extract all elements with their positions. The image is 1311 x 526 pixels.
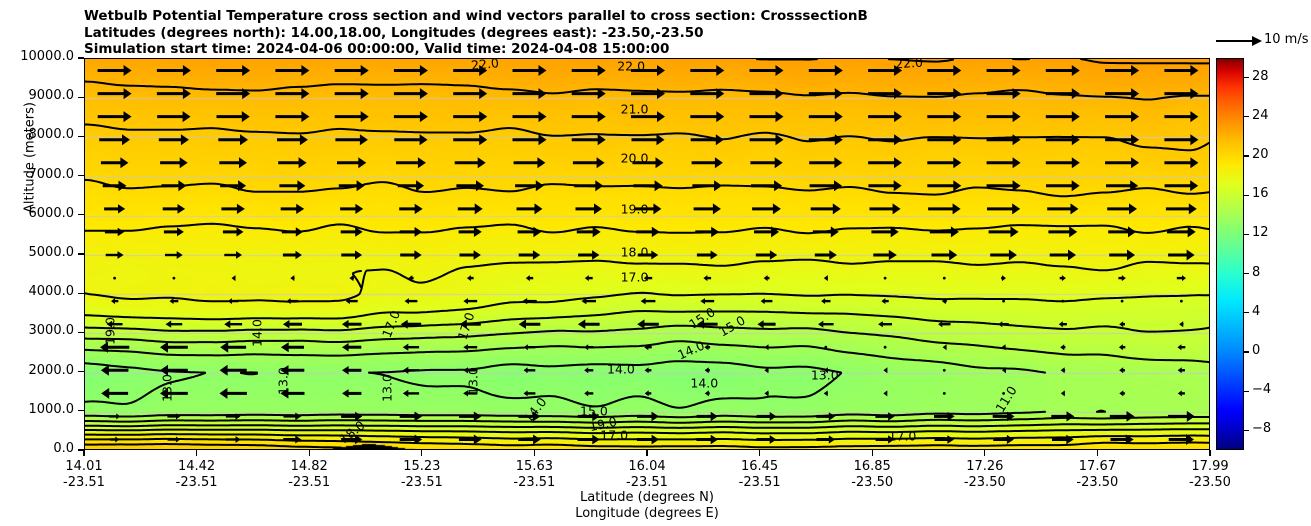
contour-label: 17.0 bbox=[889, 429, 917, 444]
x-tick-label-latitude: 14.42 bbox=[152, 459, 242, 474]
x-tick-label-longitude: -23.50 bbox=[940, 475, 1030, 490]
x-tick-label-longitude: -23.51 bbox=[152, 475, 242, 490]
colorbar-tick-label: 16 bbox=[1252, 186, 1269, 201]
contour-line bbox=[85, 423, 1209, 428]
x-tick-label-longitude: -23.51 bbox=[377, 475, 467, 490]
x-tick-label-latitude: 14.01 bbox=[39, 459, 129, 474]
colorbar-tick-mark bbox=[1244, 195, 1249, 196]
contour-label: 22.0 bbox=[617, 59, 645, 74]
x-tick-label-longitude: -23.51 bbox=[39, 475, 129, 490]
y-tick-label: 1000.0 bbox=[0, 402, 74, 417]
contour-label: 14.0 bbox=[250, 319, 265, 347]
colorbar-tick-mark bbox=[1244, 116, 1249, 117]
contour-line bbox=[353, 275, 361, 288]
contour-label: 21.0 bbox=[621, 102, 649, 117]
colorbar-tick-label: 0 bbox=[1252, 343, 1260, 358]
contour-line bbox=[1081, 59, 1209, 63]
title-line-1: Wetbulb Potential Temperature cross sect… bbox=[84, 8, 868, 25]
y-axis-title: Altitude (meters) bbox=[23, 58, 38, 258]
x-tick-mark bbox=[534, 450, 535, 456]
x-tick-label-latitude: 16.04 bbox=[602, 459, 692, 474]
contour-line bbox=[85, 224, 1209, 233]
contour-line bbox=[369, 361, 841, 372]
x-tick-mark bbox=[984, 450, 985, 456]
contour-label: 22.0 bbox=[470, 58, 499, 73]
y-tick-label: 3000.0 bbox=[0, 323, 74, 338]
colorbar-tick-mark bbox=[1244, 430, 1249, 431]
x-tick-mark bbox=[1209, 450, 1210, 456]
figure-title: Wetbulb Potential Temperature cross sect… bbox=[84, 8, 868, 58]
y-tick-mark bbox=[78, 214, 84, 215]
contour-label: 13.0 bbox=[276, 367, 291, 395]
y-tick-label: 4000.0 bbox=[0, 284, 74, 299]
contour-label: 13.0 bbox=[160, 374, 175, 402]
contour-label: 17.0 bbox=[621, 269, 649, 284]
colorbar-tick-label: 4 bbox=[1252, 304, 1260, 319]
colorbar-tick-mark bbox=[1244, 312, 1249, 313]
y-tick-mark bbox=[78, 175, 84, 176]
y-tick-mark bbox=[78, 293, 84, 294]
x-tick-mark bbox=[872, 450, 873, 456]
x-tick-label-longitude: -23.51 bbox=[489, 475, 579, 490]
contour-line bbox=[85, 444, 341, 448]
wind-vector-key: 10 m/s bbox=[1216, 32, 1311, 52]
contour-line bbox=[85, 429, 1209, 433]
title-line-3: Simulation start time: 2024-04-06 00:00:… bbox=[84, 41, 868, 58]
x-tick-label-longitude: -23.50 bbox=[1165, 475, 1255, 490]
colorbar-tick-mark bbox=[1244, 273, 1249, 274]
y-tick-label: 0.0 bbox=[0, 441, 74, 456]
x-tick-mark bbox=[1097, 450, 1098, 456]
y-tick-mark bbox=[78, 410, 84, 411]
contour-label: 17.0 bbox=[600, 428, 628, 443]
x-tick-label-latitude: 17.26 bbox=[940, 459, 1030, 474]
x-tick-label-longitude: -23.51 bbox=[715, 475, 805, 490]
contour-label: 20.0 bbox=[621, 150, 649, 165]
cross-section-plot: 22.022.022.021.020.019.018.017.019.014.0… bbox=[84, 58, 1210, 450]
colorbar-tick-label: 20 bbox=[1252, 147, 1269, 162]
colorbar-tick-label: 12 bbox=[1252, 225, 1269, 240]
x-tick-label-latitude: 16.85 bbox=[827, 459, 917, 474]
contour-line bbox=[85, 373, 205, 404]
contour-label: 13.0 bbox=[379, 374, 394, 402]
y-tick-mark bbox=[78, 97, 84, 98]
x-tick-label-latitude: 15.23 bbox=[377, 459, 467, 474]
contour-label: 13.0 bbox=[466, 367, 481, 395]
y-tick-label: 2000.0 bbox=[0, 363, 74, 378]
x-tick-mark bbox=[421, 450, 422, 456]
contour-label: 14.0 bbox=[690, 375, 718, 390]
contour-label: 22.0 bbox=[895, 58, 924, 71]
y-tick-mark bbox=[78, 57, 84, 58]
arrow-right-icon bbox=[1216, 34, 1262, 48]
contour-label: 13.0 bbox=[811, 367, 839, 382]
colorbar-tick-label: −4 bbox=[1252, 382, 1271, 397]
x-tick-label-latitude: 16.45 bbox=[715, 459, 805, 474]
contour-line bbox=[85, 180, 1209, 196]
x-tick-label-latitude: 14.82 bbox=[264, 459, 354, 474]
contour-line bbox=[85, 293, 1209, 319]
contour-line bbox=[85, 363, 205, 372]
colorbar-tick-label: 24 bbox=[1252, 108, 1269, 123]
x-axis-title-longitude: Longitude (degrees E) bbox=[84, 506, 1210, 521]
contour-line bbox=[369, 373, 841, 408]
contour-line bbox=[85, 341, 1045, 372]
wind-vector-key-label: 10 m/s bbox=[1264, 32, 1309, 47]
contour-line bbox=[757, 59, 817, 60]
x-tick-label-latitude: 17.99 bbox=[1165, 459, 1255, 474]
colorbar-tick-mark bbox=[1244, 155, 1249, 156]
x-tick-mark bbox=[196, 450, 197, 456]
x-tick-mark bbox=[646, 450, 647, 456]
contour-line bbox=[85, 125, 1209, 151]
x-axis-title-latitude: Latitude (degrees N) bbox=[84, 490, 1210, 505]
colorbar-tick-mark bbox=[1244, 234, 1249, 235]
x-tick-label-longitude: -23.50 bbox=[1052, 475, 1142, 490]
contour-line bbox=[85, 412, 1045, 417]
x-tick-label-latitude: 17.67 bbox=[1052, 459, 1142, 474]
x-tick-label-longitude: -23.51 bbox=[602, 475, 692, 490]
contour-label: 19.0 bbox=[621, 201, 649, 216]
contour-label: 14.0 bbox=[607, 361, 635, 376]
contour-line bbox=[353, 271, 361, 273]
x-tick-label-longitude: -23.51 bbox=[264, 475, 354, 490]
x-tick-label-longitude: -23.50 bbox=[827, 475, 917, 490]
title-line-2: Latitudes (degrees north): 14.00,18.00, … bbox=[84, 25, 868, 42]
colorbar-tick-label: 8 bbox=[1252, 265, 1260, 280]
x-tick-mark bbox=[309, 450, 310, 456]
colorbar-tick-label: −8 bbox=[1252, 421, 1271, 436]
contour-label: 19.0 bbox=[102, 318, 117, 346]
contour-line bbox=[85, 82, 1209, 100]
contour-line bbox=[85, 417, 1209, 423]
y-tick-mark bbox=[78, 371, 84, 372]
colorbar bbox=[1216, 58, 1244, 450]
y-tick-mark bbox=[78, 136, 84, 137]
colorbar-tick-mark bbox=[1244, 77, 1249, 78]
colorbar-tick-mark bbox=[1244, 351, 1249, 352]
y-tick-mark bbox=[78, 253, 84, 254]
x-tick-mark bbox=[759, 450, 760, 456]
contour-label: 18.0 bbox=[621, 244, 649, 259]
x-tick-label-latitude: 15.63 bbox=[489, 459, 579, 474]
chart-figure: Wetbulb Potential Temperature cross sect… bbox=[0, 0, 1311, 526]
colorbar-tick-mark bbox=[1244, 391, 1249, 392]
colorbar-tick-label: 28 bbox=[1252, 69, 1269, 84]
x-tick-mark bbox=[83, 450, 84, 456]
y-tick-mark bbox=[78, 332, 84, 333]
